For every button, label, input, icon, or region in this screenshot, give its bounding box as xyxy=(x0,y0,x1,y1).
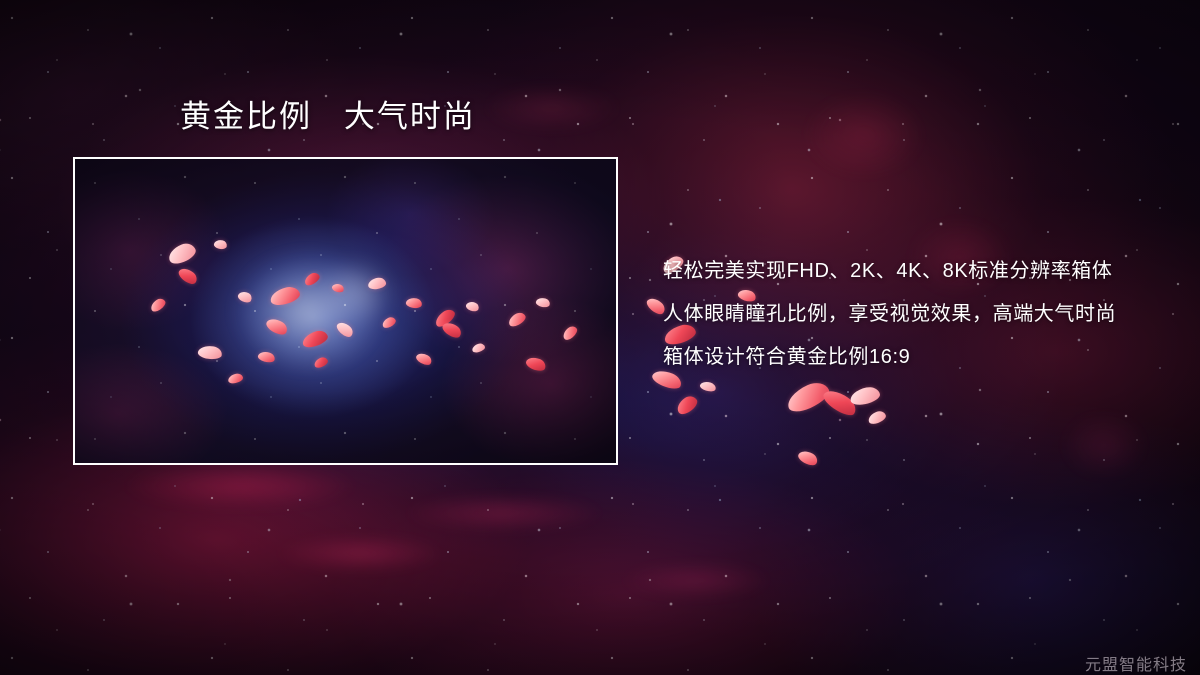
petal xyxy=(699,380,717,393)
body-line-2: 人体眼睛瞳孔比例，享受视觉效果，高端大气时尚 xyxy=(663,293,1163,336)
petal xyxy=(796,448,819,468)
presentation-slide: 黄金比例 大气时尚 轻松完美实现FHD、2K、4K、8K标准分辨率箱体 人体眼睛… xyxy=(0,0,1200,675)
image-frame-16x9 xyxy=(73,157,618,465)
body-line-1: 轻松完美实现FHD、2K、4K、8K标准分辨率箱体 xyxy=(663,250,1163,293)
petal xyxy=(674,393,700,417)
slide-title: 黄金比例 大气时尚 xyxy=(180,100,476,134)
body-line-3: 箱体设计符合黄金比例16:9 xyxy=(663,336,1163,379)
watermark: 元盟智能科技 xyxy=(1085,651,1187,675)
petal xyxy=(867,409,888,425)
petal xyxy=(820,385,859,419)
petal xyxy=(783,378,832,416)
petal xyxy=(849,385,882,407)
frame-vignette xyxy=(75,159,616,463)
slide-body-text: 轻松完美实现FHD、2K、4K、8K标准分辨率箱体 人体眼睛瞳孔比例，享受视觉效… xyxy=(663,250,1163,379)
